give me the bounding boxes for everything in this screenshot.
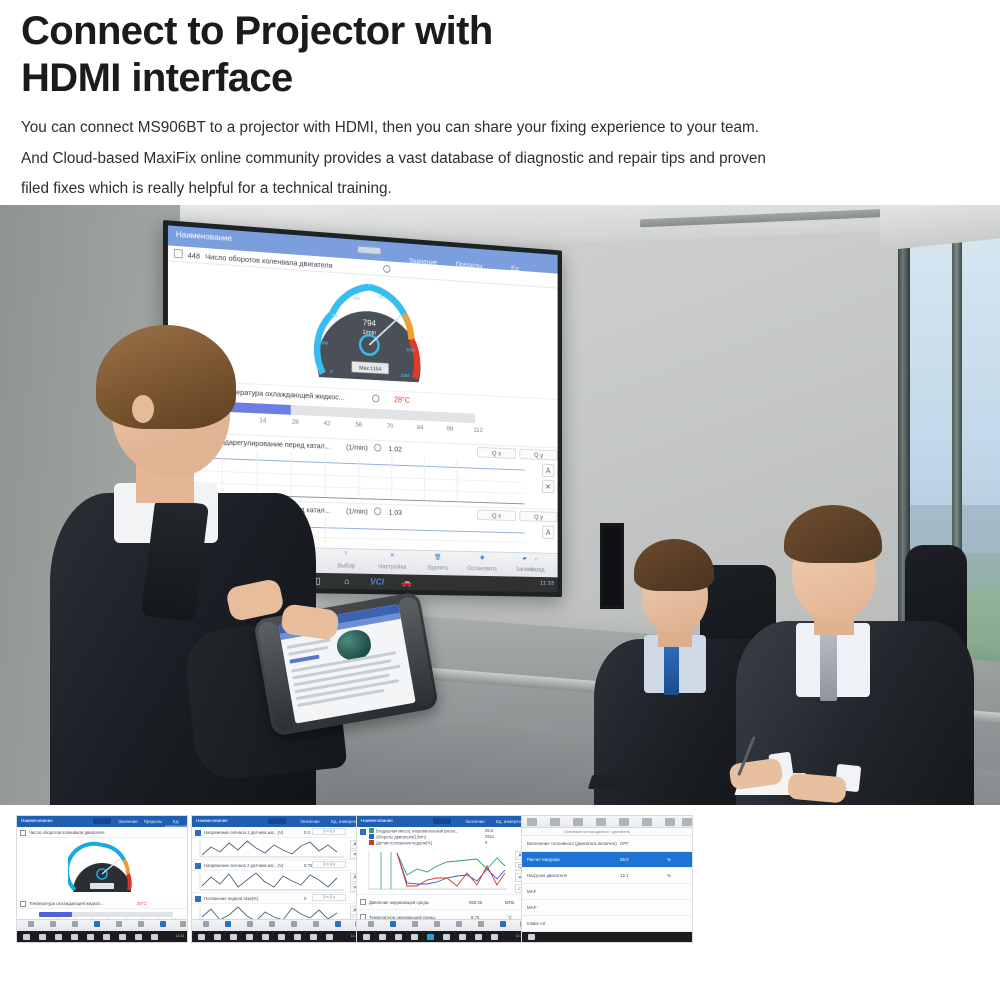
camera-icon[interactable] [427, 934, 434, 940]
page-root: Connect to Projector with HDMI interface… [0, 0, 1000, 1000]
thumb-o2-plot-2[interactable]: A ✕ [192, 871, 362, 893]
thumb-col-value: Значение [115, 819, 141, 824]
gear-icon[interactable] [374, 507, 381, 515]
thumb-topbar: Наименование Значение Ед. измерения [192, 816, 362, 827]
toolbar-item[interactable] [21, 921, 41, 928]
home-icon[interactable] [39, 934, 46, 940]
data-row-calculated-load[interactable]: Расчет нагрузки 36.0 % [522, 852, 692, 868]
zoom-control[interactable]: Q x Q y [312, 894, 346, 901]
recent-apps-icon[interactable] [55, 934, 62, 940]
legend-item-3: Датчик положения педали(%) [369, 840, 458, 846]
toolbar-tune-button[interactable]: ✕Настройка [370, 552, 414, 571]
chart-legend: Воздушная масса, нагревательный расхо...… [357, 827, 527, 849]
thumb-col-value: Значение [296, 819, 324, 824]
vci-icon[interactable] [135, 934, 142, 940]
home-icon[interactable] [550, 818, 560, 826]
home-icon[interactable] [214, 934, 221, 940]
thumb-navbar: 11:33 [17, 931, 187, 942]
wrench-icon: ✕ [370, 552, 414, 564]
lambda-graph-2-unit: (1/min) [346, 507, 368, 516]
fullscreen-button[interactable]: ✕ [542, 480, 554, 494]
toolbar-item[interactable] [43, 921, 63, 928]
row-label: Нагрузка двигателя [527, 873, 567, 878]
hair [96, 325, 236, 429]
thumbnail-waveform-screen[interactable]: Наименование Значение Ед. измерения Напр… [191, 815, 363, 943]
thumb-navbar: 11:33 [357, 931, 527, 942]
back-icon[interactable] [23, 934, 30, 940]
th4-subtitle: Основные потоки данных / двигатель [522, 828, 692, 836]
hair [784, 505, 882, 563]
gear-icon[interactable] [383, 265, 390, 273]
thumb-topbar-handle [433, 818, 451, 824]
zoom-control[interactable]: Q x Q y [312, 828, 346, 835]
thumb-topbar-title: Наименование [196, 818, 228, 823]
thumb-topbar-title: Наименование [21, 818, 53, 823]
tablet-selected-row [289, 655, 319, 664]
page-title: Connect to Projector with HDMI interface [21, 8, 721, 102]
row-label: Число оборотов коленвала двигателя [29, 830, 104, 835]
toolbar-item[interactable] [65, 921, 85, 928]
row-label: MAF [527, 889, 536, 894]
page-title-line2: HDMI interface [21, 55, 721, 102]
svg-text:664: 664 [379, 294, 386, 299]
toolbar-item[interactable] [449, 921, 469, 928]
thumb-col-value: Значение [461, 819, 489, 824]
data-row-fuel[interactable]: Включение топливного (двигатель включен)… [522, 836, 692, 852]
lambda-graph-1-value: 1.02 [389, 444, 402, 453]
toolbar-item[interactable] [427, 921, 447, 928]
necktie [664, 639, 679, 695]
description-line-1: You can connect MS906BT to a projector w… [21, 113, 973, 144]
svg-text:332: 332 [330, 313, 338, 318]
legend-label: Воздушная масса, нагревательный расхо... [376, 829, 458, 834]
back-icon[interactable] [363, 934, 370, 940]
thumb-temp-bar [39, 912, 173, 917]
row-label: Intake Air [527, 921, 545, 926]
toolbar-item[interactable] [218, 921, 238, 928]
vci-icon[interactable] [310, 934, 317, 940]
svg-text:Max:1164: Max:1164 [359, 366, 381, 373]
toolbar-back-label: Назад [529, 566, 544, 573]
gear-icon[interactable] [374, 444, 381, 452]
toolbar-item[interactable] [306, 921, 326, 928]
manual-icon[interactable] [119, 934, 126, 940]
row-value: 0.3 [304, 830, 310, 835]
thumbnail-gauge-screen[interactable]: Наименование Значение Пределы Ед. измере… [16, 815, 188, 943]
header-section: Connect to Projector with HDMI interface… [0, 0, 1000, 205]
hand-resting [787, 773, 847, 804]
vehicle-icon[interactable] [491, 934, 498, 940]
ear [132, 395, 154, 423]
gear-icon[interactable] [372, 394, 379, 402]
zoom-x-button[interactable]: Q x [477, 509, 516, 521]
row-label: Включение топливного (двигатель включен) [527, 841, 617, 846]
thumb-topbar-title: Наименование [361, 818, 393, 823]
coolant-temp-value: 28°C [394, 395, 410, 404]
thumb-navbar: 11:33 [192, 931, 362, 942]
thumbnail-strip: Наименование Значение Пределы Ед. измере… [0, 805, 1000, 1000]
thumb-row-rpm[interactable]: Число оборотов коленвала двигателя [17, 827, 187, 838]
toolbar-item[interactable] [284, 921, 304, 928]
row-checkbox[interactable] [195, 896, 201, 902]
row-label: Положение педали газа(%) [204, 896, 258, 901]
legend-value-1: 25.6 [485, 828, 493, 833]
toolbar-stop-label: Остановить [467, 565, 497, 572]
toolbar-item[interactable] [173, 921, 188, 928]
chrome-icon[interactable] [71, 934, 78, 940]
th4-navbar [522, 932, 692, 942]
toolbar-delete-button[interactable]: 🗑Удалить [416, 553, 459, 572]
thumb-row-temp[interactable]: Температура охлаждающей жидкос... 28°C [17, 898, 187, 909]
tick-84: 84 [417, 424, 424, 431]
thumb-rpm-gauge [68, 840, 136, 896]
toolbar-item[interactable] [196, 921, 216, 928]
svg-text:1022: 1022 [406, 347, 416, 352]
lambda-graph-2-value: 1.03 [389, 508, 402, 517]
back-icon[interactable] [528, 934, 535, 940]
chrome-icon[interactable] [246, 934, 253, 940]
svg-text:1/min: 1/min [363, 330, 377, 337]
toolbar-item[interactable] [383, 921, 403, 928]
vehicle-icon[interactable] [527, 818, 537, 826]
hair [634, 539, 714, 591]
tick-98: 98 [447, 426, 454, 433]
data-row-maf[interactable]: MAF [522, 884, 692, 900]
topbar-title: Наименование [176, 229, 232, 243]
row-value: 0 [304, 896, 306, 901]
legend-label: Обороты двигателя(1/min) [376, 835, 426, 840]
gear-icon[interactable] [596, 818, 606, 826]
page-description: You can connect MS906BT to a projector w… [21, 113, 973, 205]
page-title-line1: Connect to Projector with [21, 9, 493, 53]
toolbar-item[interactable] [240, 921, 260, 928]
tick-112: 112 [473, 427, 482, 434]
manual-icon[interactable] [459, 934, 466, 940]
save-icon[interactable] [665, 818, 675, 826]
camera-icon[interactable] [87, 934, 94, 940]
toolbar-item[interactable] [153, 921, 173, 928]
thumb-temp-fill [39, 912, 72, 917]
toolbar-item[interactable] [471, 921, 491, 928]
thumb-toolbar [17, 919, 187, 931]
row-checkbox[interactable] [174, 249, 183, 259]
manual-icon[interactable]: ⌂ [344, 575, 349, 587]
vci-icon[interactable] [475, 934, 482, 940]
thumb-topbar-handle [93, 818, 111, 824]
svg-text:498: 498 [353, 296, 361, 301]
thumb-topbar: Наименование Значение Ед. измерения [357, 816, 527, 827]
svg-text:794: 794 [363, 317, 376, 328]
thumb-row-pressure[interactable]: Давление окружающей среды 993.36 МПа [357, 895, 527, 910]
zoom-x-button[interactable]: Q x [477, 447, 516, 459]
tick-56: 56 [355, 422, 362, 429]
thumbnail-data-list-screen[interactable]: Основные потоки данных / двигатель Включ… [521, 815, 693, 943]
zoom-y-button[interactable]: Q y [519, 511, 557, 522]
toolbar-item[interactable] [361, 921, 381, 928]
row-label: Давление окружающей среды [369, 900, 429, 905]
volume-icon[interactable] [443, 934, 450, 940]
svg-text:1164: 1164 [401, 373, 410, 378]
thumb-row-o2-1[interactable]: Напряжение сигнала 1 датчика кис...(V) 0… [192, 827, 362, 838]
print-icon[interactable] [642, 818, 652, 826]
thumb-row-pedal[interactable]: Положение педали газа(%) 0 Q x Q y [192, 893, 362, 904]
recent-apps-icon[interactable] [230, 934, 237, 940]
thumb-col-limits: Пределы [141, 819, 165, 824]
home-icon[interactable] [379, 934, 386, 940]
tick-70: 70 [387, 423, 394, 430]
multi-series-plot[interactable]: A Q ✕ ▭ [357, 849, 527, 895]
thumb-gauge-panel [17, 838, 187, 898]
row-unit: % [667, 873, 671, 878]
zoom-y-button[interactable]: Q y [519, 449, 557, 461]
row-label: MAP [527, 905, 537, 910]
row-value: 28°C [137, 901, 147, 906]
navbar-status: 11:33 [540, 581, 554, 587]
toolbar-item[interactable] [328, 921, 348, 928]
thumb-o2-plot-1[interactable]: A ✕ [192, 838, 362, 860]
annotate-button[interactable]: A [542, 464, 554, 478]
back-arrow-icon: ← [516, 555, 558, 566]
legend-list: Воздушная масса, нагревательный расхо...… [369, 828, 458, 846]
svg-text:830: 830 [403, 317, 410, 322]
th4-icon-toolbar [522, 816, 692, 828]
row-checkbox[interactable] [20, 901, 26, 907]
data-row-map[interactable]: MAP [522, 900, 692, 916]
annotate-button[interactable]: A [542, 526, 554, 539]
thumb-toolbar [357, 919, 527, 931]
vehicle-icon[interactable] [326, 934, 333, 940]
vehicle-icon[interactable]: 🚗 [401, 576, 411, 588]
row-label: Напряжение сигнала 2 датчика кис...(V) [204, 863, 283, 868]
toolbar-stop-button[interactable]: ◉Остановить [461, 554, 504, 573]
legend-swatch [369, 840, 374, 845]
necktie [820, 627, 837, 701]
row-label: Расчет нагрузки [527, 857, 560, 862]
row-unit: МПа [505, 900, 514, 905]
svg-text:0: 0 [330, 369, 333, 374]
row-label: Температура охлаждающей жидкос... [29, 901, 104, 906]
thumb-toolbar [192, 919, 362, 931]
toolbar-item[interactable] [405, 921, 425, 928]
row-checkbox[interactable] [360, 899, 366, 905]
row-value: OFF [620, 841, 629, 846]
toolbar-back-button[interactable]: ←Назад [516, 555, 558, 574]
thumb-topbar: Наименование Значение Пределы Ед. измере… [17, 816, 187, 827]
row-value: 993.36 [469, 900, 482, 905]
vci-icon[interactable]: VCI [370, 576, 384, 588]
row-value: 12.1 [620, 873, 629, 878]
list-icon[interactable] [573, 818, 583, 826]
camera-icon[interactable] [262, 934, 269, 940]
row-label: Напряжение сигнала 1 датчика кис...(V) [204, 830, 283, 835]
chrome-icon[interactable] [411, 934, 418, 940]
volume-icon[interactable] [278, 934, 285, 940]
car-icon[interactable] [619, 818, 629, 826]
th4-subtitle-text: Основные потоки данных / двигатель [564, 830, 630, 834]
toolbar-item[interactable] [493, 921, 513, 928]
navbar-status: 11:33 [176, 934, 184, 938]
zoom-control[interactable]: Q x Q y [312, 861, 346, 868]
toolbar-item[interactable] [109, 921, 129, 928]
toolbar-item[interactable] [262, 921, 282, 928]
toolbar-delete-label: Удалить [427, 564, 448, 571]
vehicle-icon[interactable] [151, 934, 158, 940]
back-icon[interactable] [198, 934, 205, 940]
legend-value-2: 2911 [485, 834, 494, 839]
row-checkbox[interactable] [195, 830, 201, 836]
notebook-on-table [588, 775, 645, 789]
row-unit: % [667, 857, 671, 862]
manual-icon[interactable] [294, 934, 301, 940]
recent-apps-icon[interactable] [395, 934, 402, 940]
data-row-intake-air[interactable]: Intake Air [522, 916, 692, 932]
legend-label: Датчик положения педали(%) [376, 841, 432, 846]
data-row-engine-load[interactable]: Нагрузка двигателя 12.1 % [522, 868, 692, 884]
legend-swatch [369, 834, 374, 839]
description-line-3: filed fixes which is really helpful for … [21, 174, 973, 205]
stop-icon: ◉ [461, 554, 504, 565]
lambda-graph-1-unit: (1/min) [346, 443, 368, 453]
thumbnail-chart-screen[interactable]: Наименование Значение Ед. измерения Возд… [356, 815, 528, 943]
thumb-topbar-handle [268, 818, 286, 824]
row-checkbox[interactable] [195, 863, 201, 869]
row-pid: 448 [188, 251, 200, 261]
description-line-2: And Cloud-based MaxiFix online community… [21, 144, 973, 175]
row-checkbox[interactable] [20, 830, 26, 836]
toolbar-item[interactable] [87, 921, 107, 928]
toolbar-item[interactable] [131, 921, 151, 928]
conference-room-photo: Наименование Значение Пределы Ед. измере… [0, 205, 1000, 805]
row-value: 36.0 [620, 857, 629, 862]
select-icon: ⊤ [324, 551, 369, 563]
legend-value-3: 0 [485, 840, 487, 845]
trash-icon: 🗑 [416, 553, 459, 564]
thumb-row-o2-2[interactable]: Напряжение сигнала 2 датчика кис...(V) 0… [192, 860, 362, 871]
volume-icon[interactable] [103, 934, 110, 940]
toolbar-tune-label: Настройка [378, 563, 406, 570]
toolbar-select-label: Выбор [337, 563, 355, 570]
legend-swatch [369, 828, 374, 833]
row-checkbox[interactable] [360, 829, 366, 835]
topbar-handle[interactable] [357, 246, 381, 256]
toolbar-select-button[interactable]: ⊤Выбор [324, 551, 369, 570]
edit-icon[interactable] [682, 818, 692, 826]
